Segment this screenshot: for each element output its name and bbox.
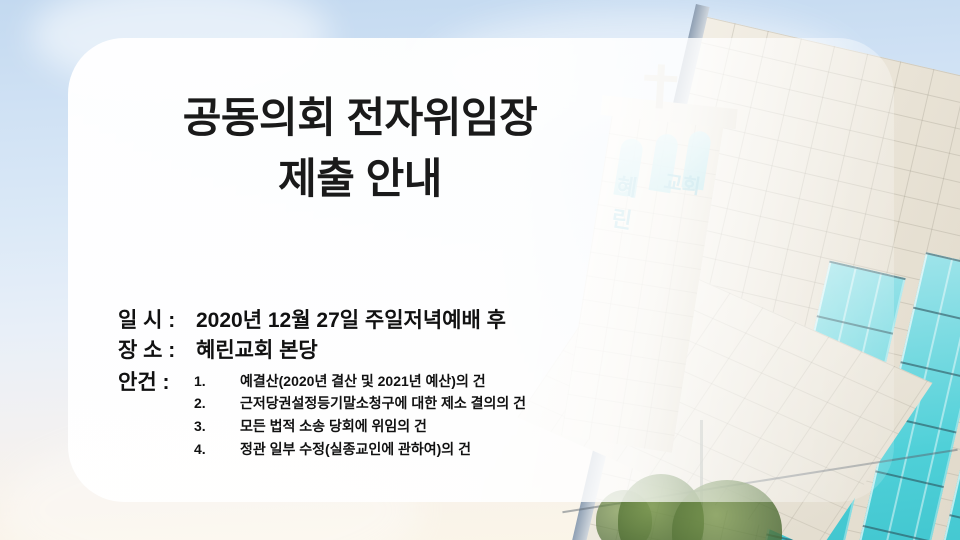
- slide-content: 공동의회 전자위임장 제출 안내 일 시 : 2020년 12월 27일 주일저…: [0, 0, 960, 540]
- agenda-item: 3. 모든 법적 소송 당회에 위임의 건: [194, 415, 526, 438]
- detail-row-location: 장 소 : 혜린교회 본당: [118, 336, 526, 366]
- agenda-item-number: 2.: [194, 392, 240, 415]
- meeting-details: 일 시 : 2020년 12월 27일 주일저녁예배 후 장 소 : 혜린교회 …: [118, 306, 526, 460]
- agenda-item: 4. 정관 일부 수정(실종교인에 관하여)의 건: [194, 438, 526, 461]
- agenda-item-text: 근저당권설정등기말소청구에 대한 제소 결의의 건: [240, 392, 526, 415]
- agenda-item-text: 모든 법적 소송 당회에 위임의 건: [240, 415, 427, 438]
- agenda-item-number: 4.: [194, 438, 240, 461]
- location-label: 장 소 :: [118, 336, 194, 366]
- datetime-label: 일 시 :: [118, 306, 194, 336]
- agenda-item-number: 3.: [194, 415, 240, 438]
- agenda-list: 1. 예결산(2020년 결산 및 2021년 예산)의 건 2. 근저당권설정…: [194, 370, 526, 461]
- detail-row-agenda: 안건 : 1. 예결산(2020년 결산 및 2021년 예산)의 건 2. 근…: [118, 368, 526, 461]
- slide-title: 공동의회 전자위임장 제출 안내: [60, 88, 660, 210]
- agenda-item-number: 1.: [194, 370, 240, 393]
- agenda-item: 1. 예결산(2020년 결산 및 2021년 예산)의 건: [194, 370, 526, 393]
- agenda-item-text: 예결산(2020년 결산 및 2021년 예산)의 건: [240, 370, 486, 393]
- presentation-slide: 혜린 교회 공동의회 전자위임장 제출 안내 일 시 : 2020년 12월 2…: [0, 0, 960, 540]
- title-line-2: 제출 안내: [60, 149, 660, 210]
- datetime-value: 2020년 12월 27일 주일저녁예배 후: [196, 306, 506, 336]
- detail-row-datetime: 일 시 : 2020년 12월 27일 주일저녁예배 후: [118, 306, 526, 336]
- agenda-item: 2. 근저당권설정등기말소청구에 대한 제소 결의의 건: [194, 392, 526, 415]
- title-line-1: 공동의회 전자위임장: [60, 88, 660, 149]
- agenda-label: 안건 :: [118, 368, 194, 398]
- location-value: 혜린교회 본당: [196, 336, 318, 366]
- agenda-item-text: 정관 일부 수정(실종교인에 관하여)의 건: [240, 438, 471, 461]
